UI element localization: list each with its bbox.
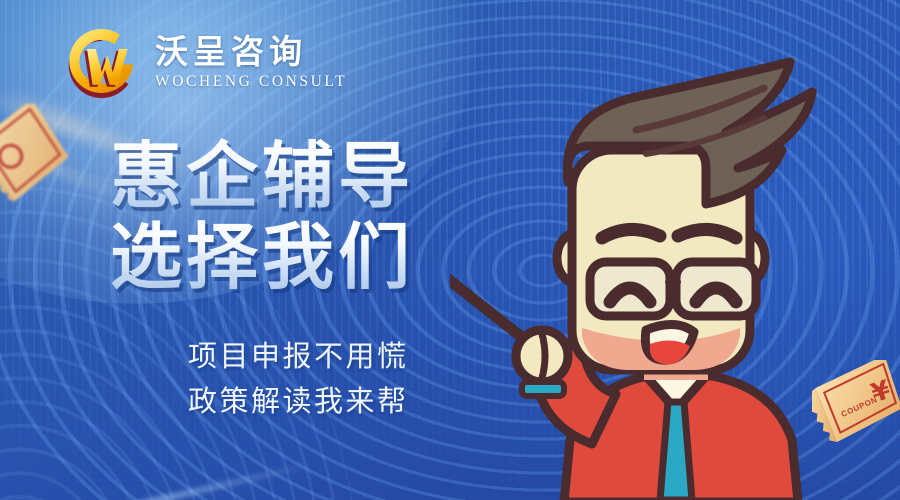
marketing-banner: 沃呈咨询 WOCHENG CONSULT 惠企辅导 选择我们 项目申报不用慌 政… — [0, 0, 900, 500]
brand-logo: 沃呈咨询 WOCHENG CONSULT — [66, 24, 347, 102]
brand-name-en: WOCHENG CONSULT — [155, 73, 347, 91]
headline-line-1: 惠企辅导 — [110, 136, 414, 217]
wocheng-circle-w-logo-icon — [66, 24, 144, 102]
brand-logo-text: 沃呈咨询 WOCHENG CONSULT — [155, 35, 347, 91]
headline: 惠企辅导 选择我们 — [110, 136, 414, 297]
subtitle: 项目申报不用慌 政策解读我来帮 — [188, 334, 409, 424]
coupon-left-icon — [0, 104, 68, 208]
subtitle-line-1: 项目申报不用慌 — [188, 334, 409, 379]
cartoon-consultant-illustration — [450, 50, 870, 500]
diagonal-light-streak — [0, 460, 316, 500]
headline-line-2: 选择我们 — [110, 217, 414, 298]
subtitle-line-2: 政策解读我来帮 — [188, 379, 409, 424]
brand-name-cn: 沃呈咨询 — [155, 35, 347, 70]
coupon-right-icon: COUPON ¥ — [812, 360, 900, 446]
